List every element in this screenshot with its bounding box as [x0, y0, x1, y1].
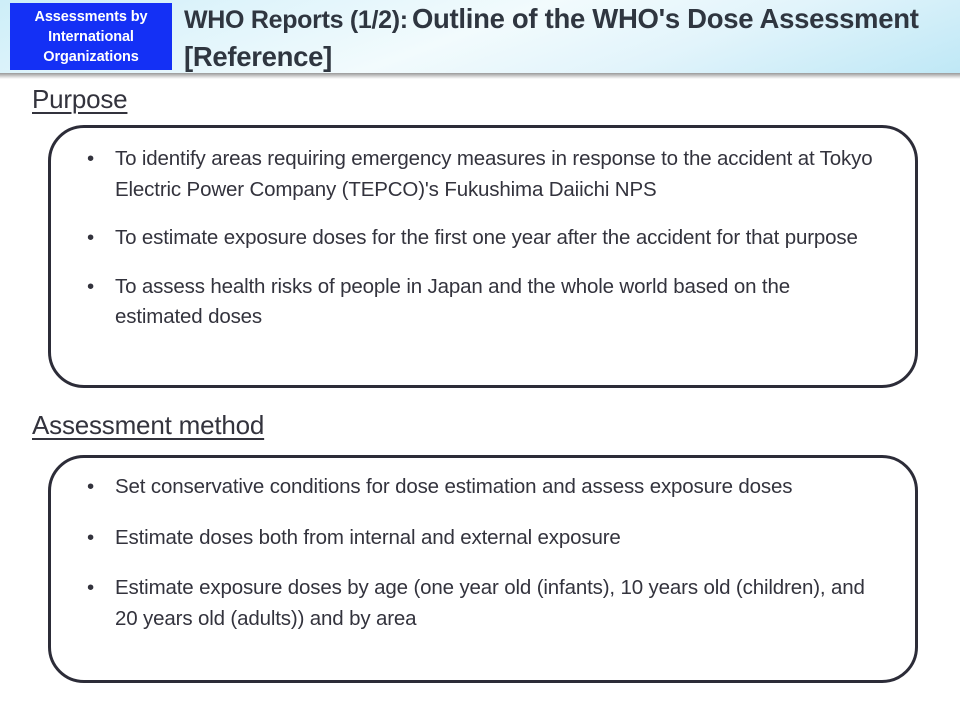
list-item: • To estimate exposure doses for the fir… — [69, 223, 881, 254]
slide-title: WHO Reports (1/2): Outline of the WHO's … — [184, 2, 944, 78]
assessment-method-bullet-box: • Set conservative conditions for dose e… — [48, 455, 918, 683]
list-item: • Set conservative conditions for dose e… — [69, 472, 881, 503]
list-item-text: Estimate doses both from internal and ex… — [115, 526, 621, 549]
list-item: • Estimate exposure doses by age (one ye… — [69, 573, 881, 634]
list-item-text: To estimate exposure doses for the first… — [115, 226, 858, 249]
bullet-dot-icon: • — [87, 523, 94, 554]
bullet-dot-icon: • — [87, 472, 94, 503]
section-heading-purpose: Purpose — [32, 84, 127, 115]
list-item-text: To assess health risks of people in Japa… — [115, 275, 790, 329]
section-heading-assessment-method: Assessment method — [32, 410, 264, 441]
list-item-text: Estimate exposure doses by age (one year… — [115, 576, 865, 630]
category-badge: Assessments by International Organizatio… — [10, 3, 172, 70]
category-badge-line-1: Assessments by — [34, 7, 147, 27]
bullet-dot-icon: • — [87, 573, 94, 604]
slide-header-band: Assessments by International Organizatio… — [0, 0, 960, 73]
bullet-dot-icon: • — [87, 272, 94, 303]
list-item: • To assess health risks of people in Ja… — [69, 272, 881, 333]
category-badge-line-3: Organizations — [43, 47, 138, 67]
assessment-method-bullet-list: • Set conservative conditions for dose e… — [69, 472, 881, 634]
purpose-bullet-box: • To identify areas requiring emergency … — [48, 125, 918, 388]
slide-body: Purpose • To identify areas requiring em… — [0, 79, 960, 720]
bullet-dot-icon: • — [87, 144, 94, 175]
slide-title-prefix: WHO Reports (1/2): — [184, 6, 408, 34]
bullet-dot-icon: • — [87, 223, 94, 254]
list-item: • Estimate doses both from internal and … — [69, 523, 881, 554]
list-item-text: Set conservative conditions for dose est… — [115, 475, 792, 498]
category-badge-line-2: International — [48, 27, 134, 47]
list-item-text: To identify areas requiring emergency me… — [115, 147, 872, 201]
list-item: • To identify areas requiring emergency … — [69, 144, 881, 205]
purpose-bullet-list: • To identify areas requiring emergency … — [69, 144, 881, 333]
